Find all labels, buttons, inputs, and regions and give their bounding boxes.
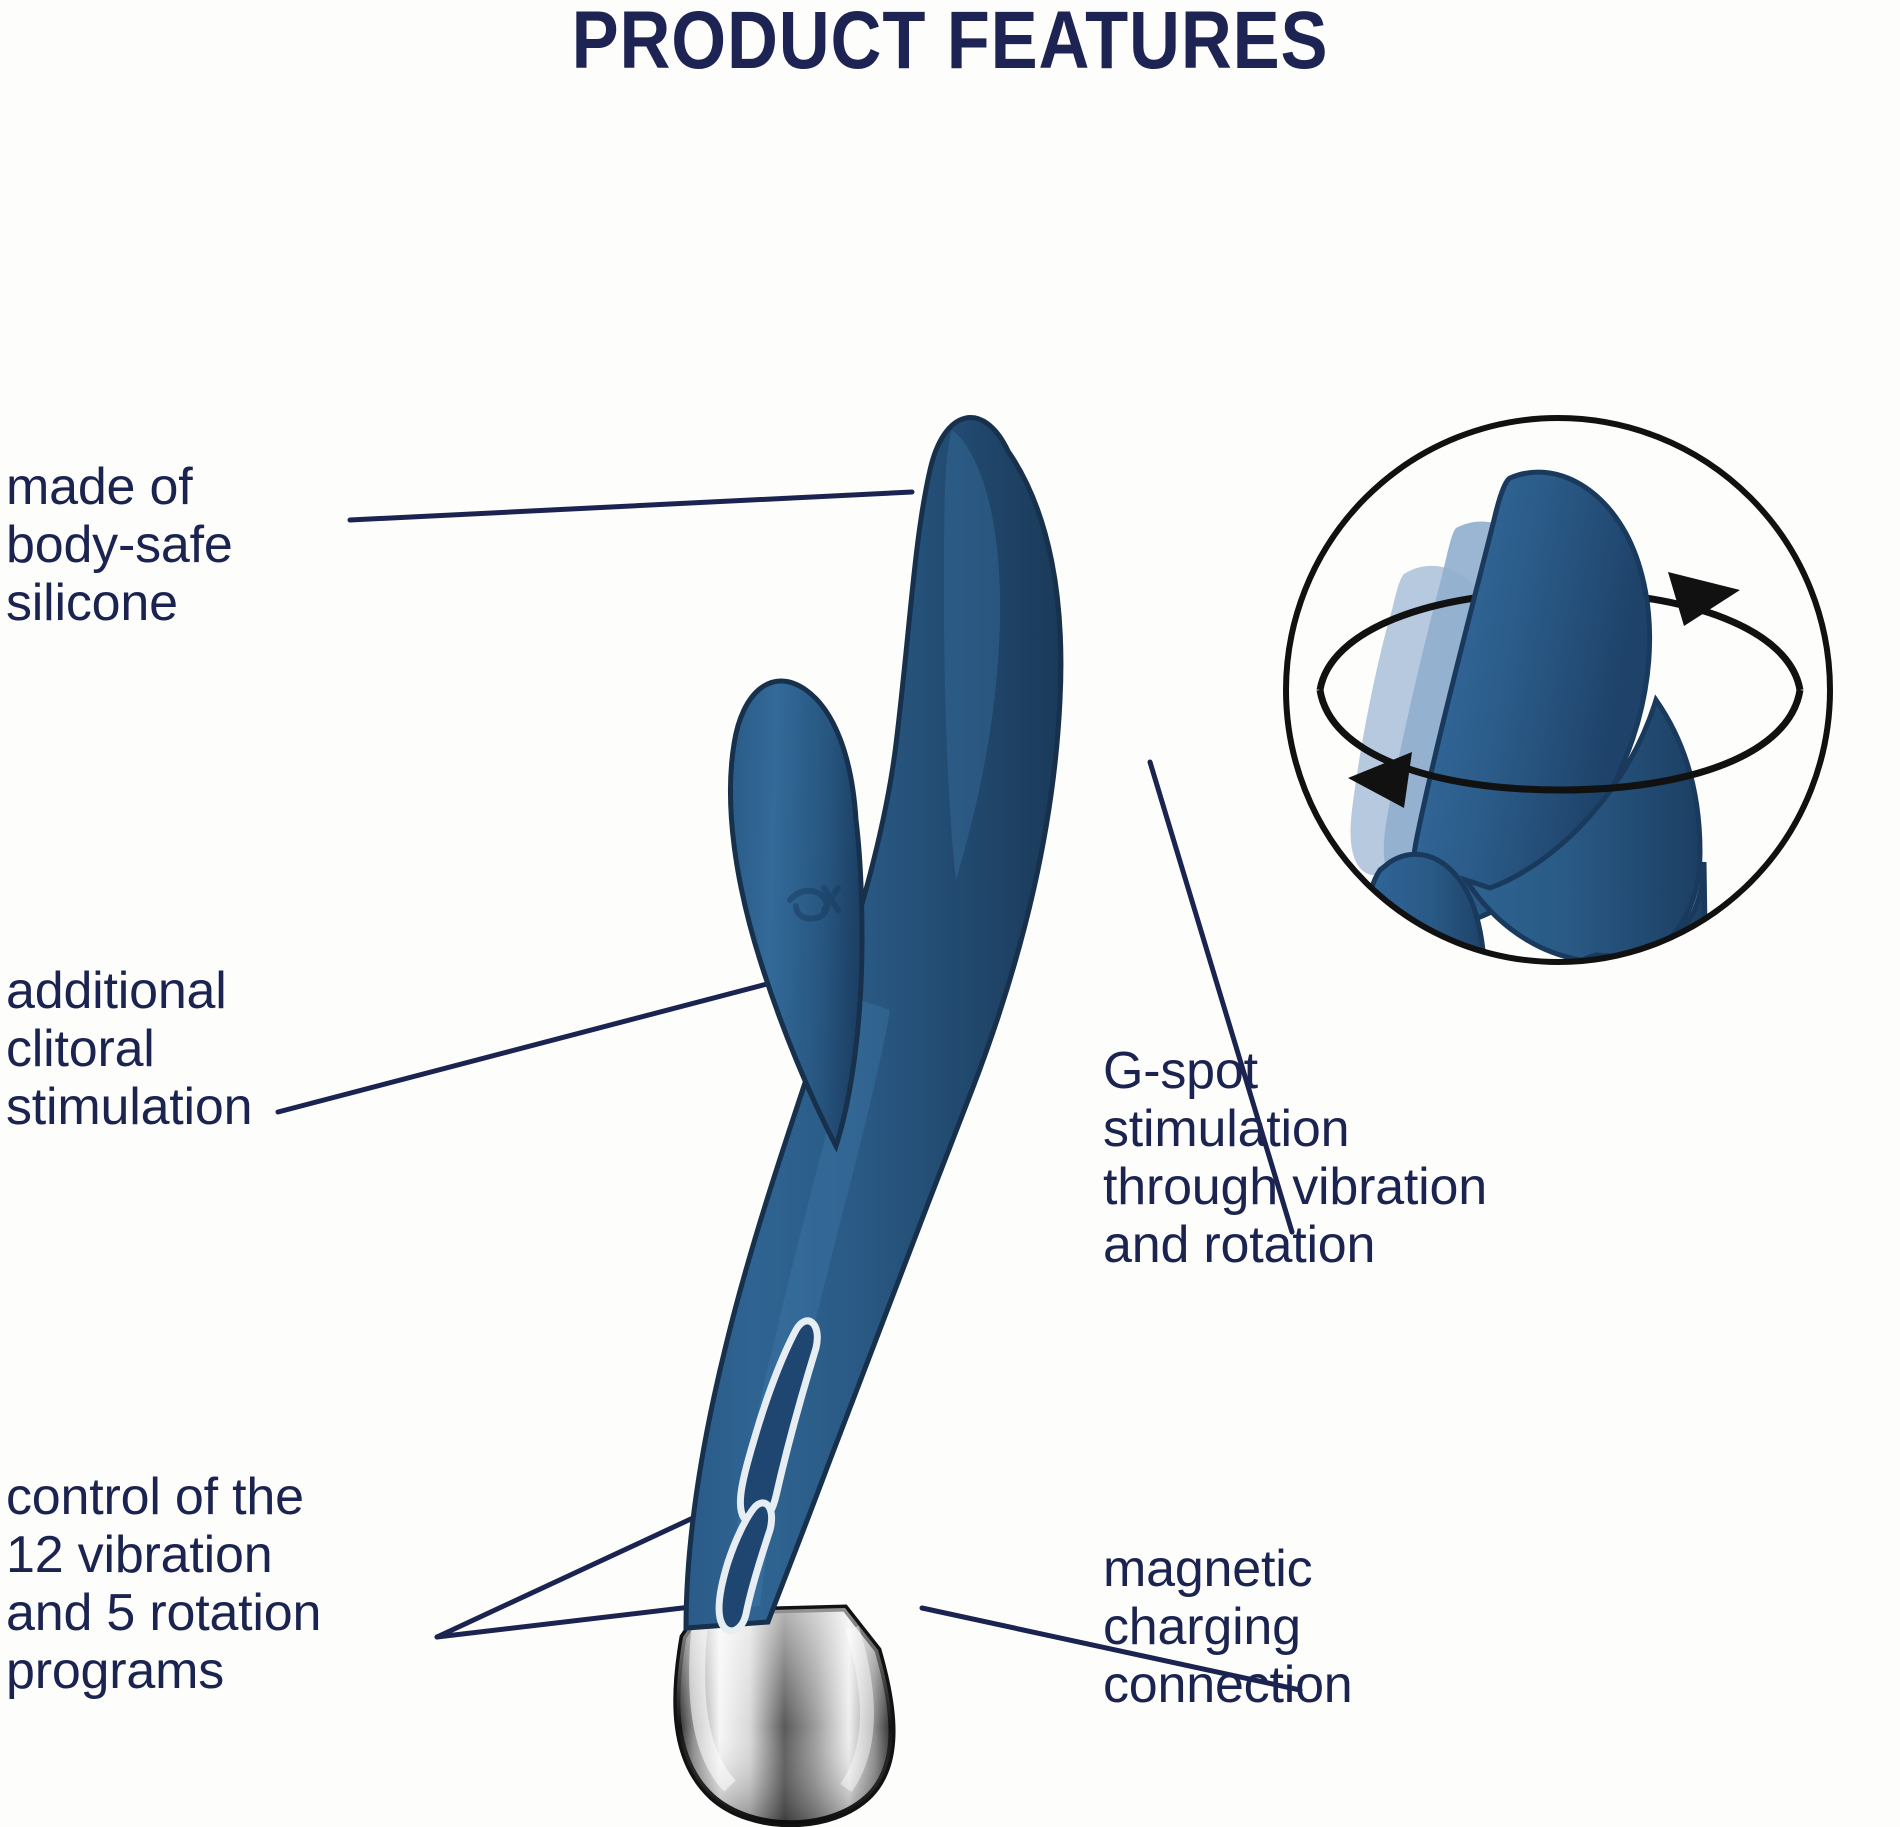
callout-magnetic-charging-connection: magnetic charging connection <box>1103 1540 1900 1714</box>
product-body <box>677 418 1061 1824</box>
callout-control-of-programs: control of the 12 vibration and 5 rotati… <box>6 1468 526 1700</box>
callout-additional-clitoral-stimulation: additional clitoral stimulation <box>6 962 476 1136</box>
chrome-charging-base <box>677 1608 892 1824</box>
infographic-page: PRODUCT FEATURES <box>0 0 1900 1827</box>
callout-made-of-body-safe-silicone: made of body-safe silicone <box>6 458 476 632</box>
rotation-inset <box>1280 410 1840 1000</box>
callout-gspot-stimulation: G-spot stimulation through vibration and… <box>1103 1042 1900 1274</box>
